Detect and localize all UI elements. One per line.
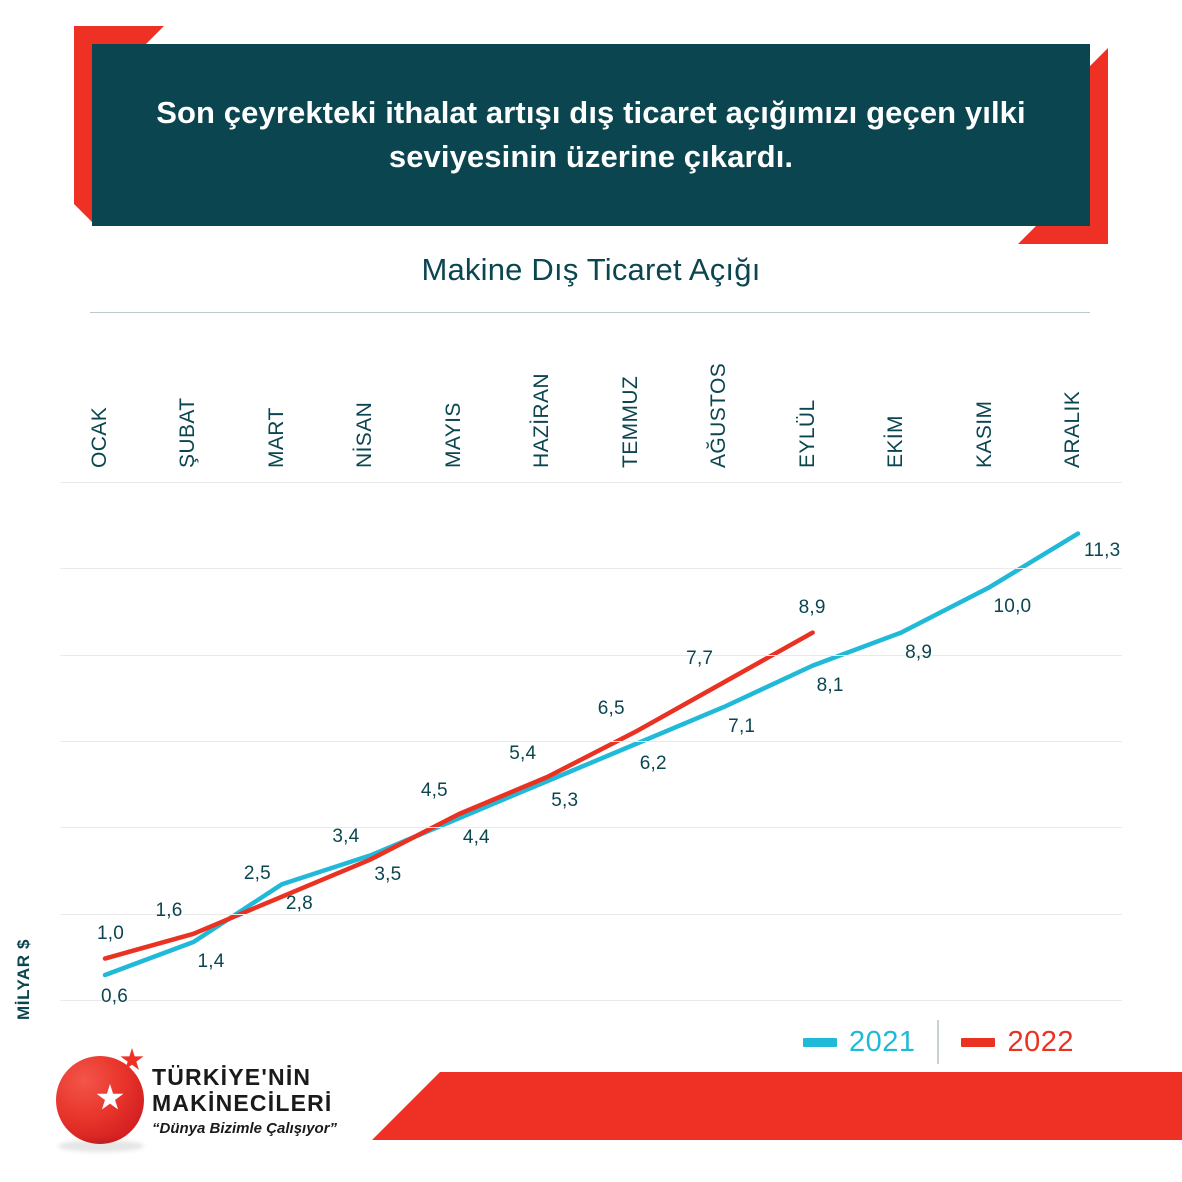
data-label-2022-eylül: 8,9 <box>799 597 826 619</box>
logo-line-2: MAKİNECİLERİ <box>152 1090 333 1117</box>
legend-swatch-icon-2022 <box>961 1038 995 1047</box>
data-label-2021-şubat: 1,4 <box>197 951 224 973</box>
data-label-2021-eylül: 8,1 <box>817 675 844 697</box>
chart-plot-area: 0,61,42,83,54,45,36,27,18,18,910,011,31,… <box>60 470 1140 1015</box>
data-label-2021-temmuz: 6,2 <box>640 753 667 775</box>
logo-shadow <box>58 1140 144 1152</box>
data-label-2021-ocak: 0,6 <box>101 986 128 1008</box>
data-label-2021-hazi̇ran: 5,3 <box>551 790 578 812</box>
data-label-2021-mayis: 4,4 <box>463 827 490 849</box>
month-label-eki̇m: EKİM <box>884 415 908 468</box>
data-label-2022-şubat: 1,6 <box>155 900 182 922</box>
logo-tagline: “Dünya Bizimle Çalışıyor” <box>152 1120 337 1137</box>
header-banner: Son çeyrekteki ithalat artışı dış ticare… <box>92 44 1090 226</box>
data-label-2021-aralik: 11,3 <box>1084 540 1120 562</box>
month-label-ni̇san: NİSAN <box>353 402 377 468</box>
data-label-2021-eki̇m: 8,9 <box>905 642 932 664</box>
legend-swatch-icon-2021 <box>803 1038 837 1047</box>
y-axis-title: MİLYAR $ <box>14 939 34 1020</box>
month-label-ağustos: AĞUSTOS <box>707 363 731 468</box>
gridline <box>60 568 1122 569</box>
data-label-2022-mayis: 4,5 <box>421 780 448 802</box>
logo-circle-icon <box>56 1056 144 1144</box>
data-label-2021-kasim: 10,0 <box>994 596 1032 618</box>
month-label-aralik: ARALIK <box>1061 391 1085 468</box>
gridline <box>60 914 1122 915</box>
logo: TÜRKİYE'NİN MAKİNECİLERİ “Dünya Bizimle … <box>56 1048 366 1160</box>
series-line-2022 <box>105 633 813 959</box>
gridline <box>60 482 1122 483</box>
month-label-eylül: EYLÜL <box>796 399 820 468</box>
legend-item-2022[interactable]: 2022 <box>961 1026 1074 1059</box>
header-box: Son çeyrekteki ithalat artışı dış ticare… <box>92 44 1090 226</box>
data-label-2022-ni̇san: 3,4 <box>332 826 359 848</box>
gridline <box>60 1000 1122 1001</box>
data-label-2021-mart: 2,8 <box>286 893 313 915</box>
gridline <box>60 741 1122 742</box>
data-label-2022-mart: 2,5 <box>244 863 271 885</box>
month-label-hazi̇ran: HAZİRAN <box>530 373 554 468</box>
month-label-mart: MART <box>265 407 289 468</box>
month-label-ocak: OCAK <box>88 407 112 468</box>
data-label-2021-ni̇san: 3,5 <box>374 864 401 886</box>
chart-lines <box>60 470 1140 1015</box>
data-label-2021-ağustos: 7,1 <box>728 716 755 738</box>
logo-line-1: TÜRKİYE'NİN <box>152 1064 311 1091</box>
legend-label-2021: 2021 <box>849 1026 916 1059</box>
chart-title: Makine Dış Ticaret Açığı <box>0 252 1182 288</box>
legend-label-2022: 2022 <box>1007 1026 1074 1059</box>
data-label-2022-ağustos: 7,7 <box>686 648 713 670</box>
legend-divider <box>937 1020 939 1064</box>
chart-legend: 2021 2022 <box>803 1020 1074 1064</box>
gridline <box>60 655 1122 656</box>
title-divider <box>90 312 1090 313</box>
month-label-kasim: KASIM <box>973 401 997 468</box>
gridline <box>60 827 1122 828</box>
footer-banner <box>372 1072 1182 1140</box>
header-title: Son çeyrekteki ithalat artışı dış ticare… <box>151 91 1031 179</box>
data-label-2022-ocak: 1,0 <box>97 923 124 945</box>
legend-item-2021[interactable]: 2021 <box>803 1026 916 1059</box>
data-label-2022-hazi̇ran: 5,4 <box>509 743 536 765</box>
month-label-mayis: MAYIS <box>442 402 466 468</box>
month-label-temmuz: TEMMUZ <box>619 376 643 468</box>
month-label-şubat: ŞUBAT <box>176 398 200 468</box>
data-label-2022-temmuz: 6,5 <box>598 698 625 720</box>
month-axis: OCAKŞUBATMARTNİSANMAYISHAZİRANTEMMUZAĞUS… <box>60 338 1140 468</box>
